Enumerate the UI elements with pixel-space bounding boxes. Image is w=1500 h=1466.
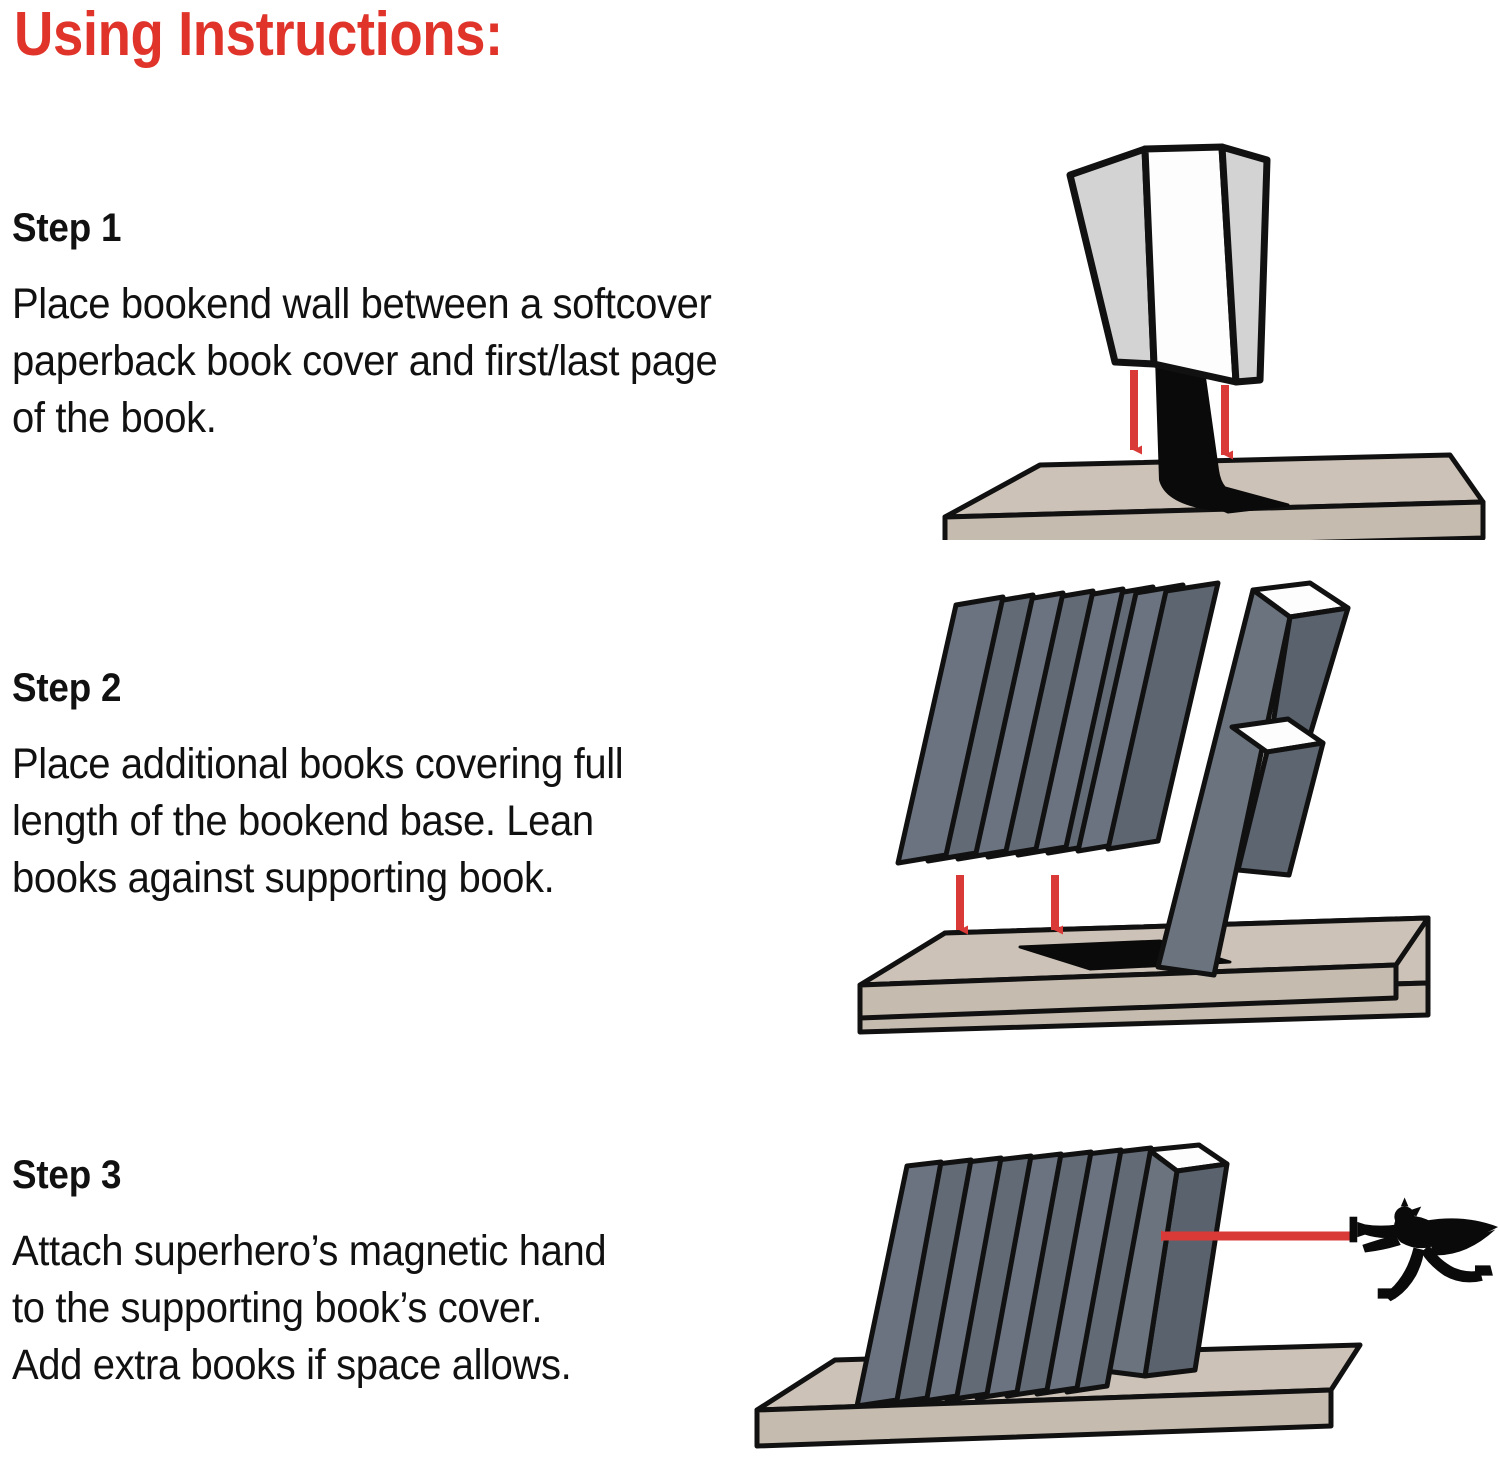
step-3-body: Attach superhero’s magnetic hand to the … [12,1223,606,1395]
step-2-text-block: Step 2 Place additional books covering f… [12,668,669,908]
step-2-line-1: Place additional books covering full [12,736,623,793]
step-2-line-2: length of the bookend base. Lean [12,793,623,850]
step-2-line-3: books against supporting book. [12,850,623,907]
step-1-illustration [930,120,1500,540]
step-1-heading: Step 1 [12,208,710,248]
step-3-line-1: Attach superhero’s magnetic hand [12,1223,606,1280]
page-title: Using Instructions: [14,2,503,67]
step-3-line-3: Add extra books if space allows. [12,1337,606,1394]
instructions-page: Using Instructions: Step 1 Place bookend… [0,0,1500,1466]
step-1-line-3: of the book. [12,390,717,447]
leaning-books-stack-icon [898,583,1218,863]
leaning-books-stack-icon [857,1148,1151,1406]
step-1-line-1: Place bookend wall between a softcover [12,276,717,333]
step-2-illustration [840,575,1440,1040]
step-2-body: Place additional books covering full len… [12,736,623,908]
step-3-line-2: to the supporting book’s cover. [12,1280,606,1337]
step-1-line-2: paperback book cover and first/last page [12,333,717,390]
step-1-body: Place bookend wall between a softcover p… [12,276,717,448]
step-2-heading: Step 2 [12,668,617,708]
open-book-icon [1070,147,1267,382]
step-3-text-block: Step 3 Attach superhero’s magnetic hand … [12,1155,651,1395]
step-1-text-block: Step 1 Place bookend wall between a soft… [12,208,770,448]
step-3-illustration [735,1138,1500,1466]
step-3-heading: Step 3 [12,1155,600,1195]
superhero-silhouette-icon [1350,1198,1498,1302]
